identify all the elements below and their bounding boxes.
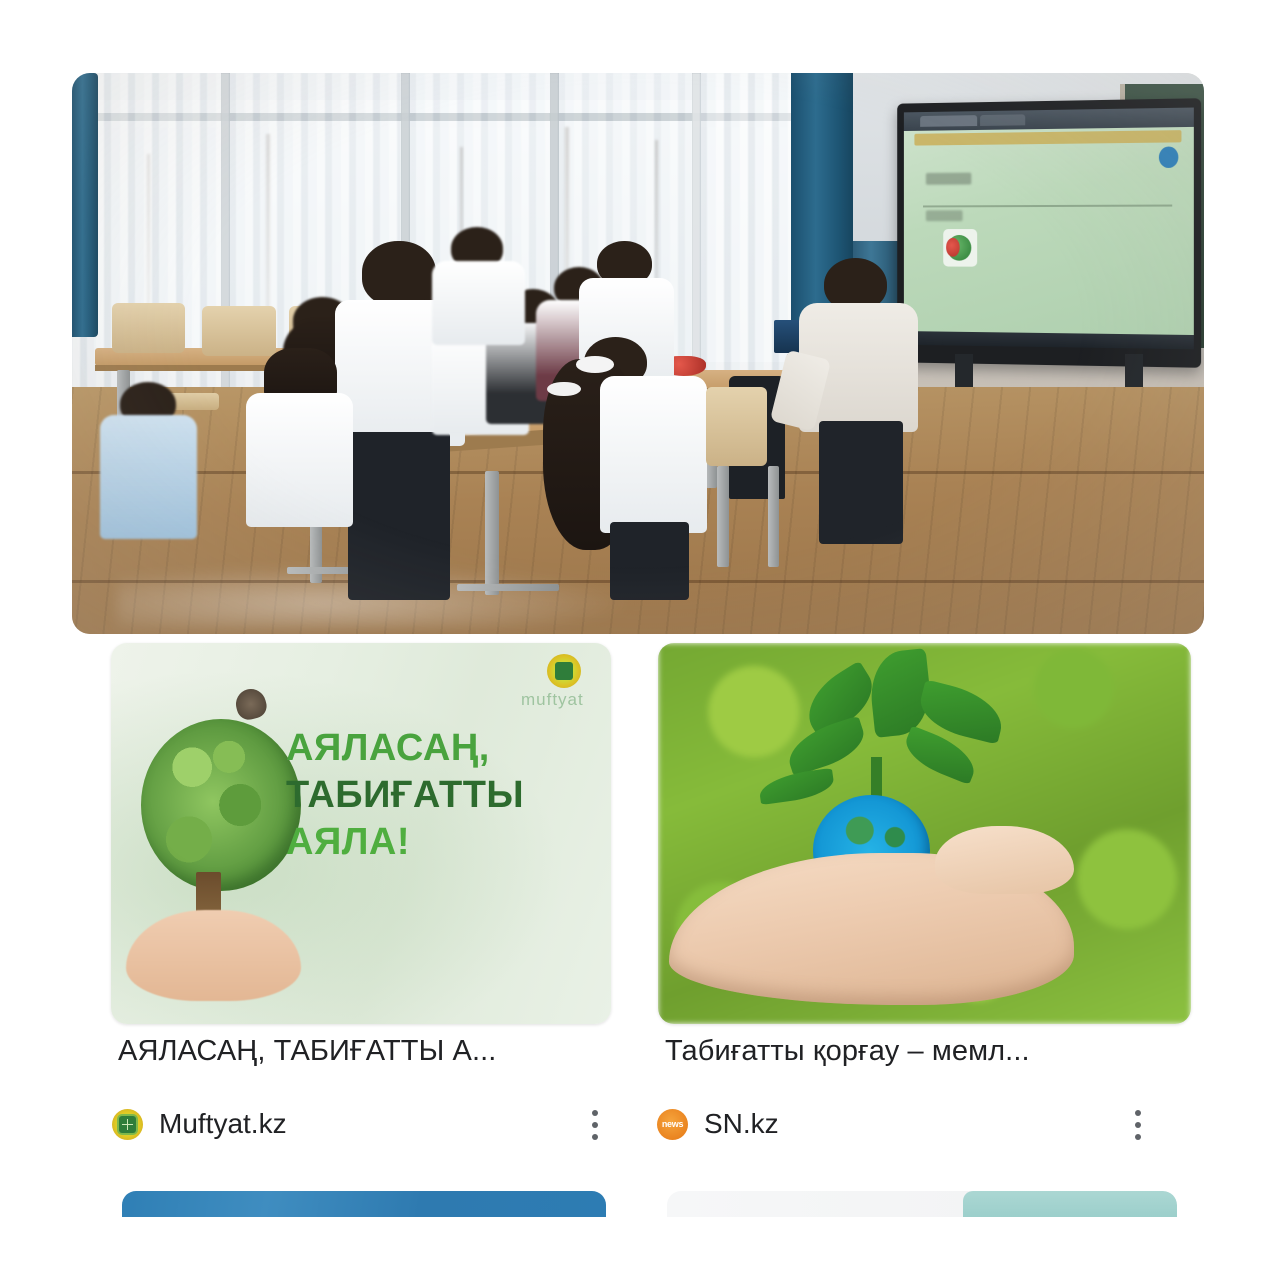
result-thumbnail[interactable] bbox=[658, 643, 1191, 1024]
muftyat-logo-icon bbox=[547, 654, 581, 688]
search-result-card[interactable]: muftyat АЯЛАСАҢ, ТАБИҒАТТЫ АЯЛА! АЯЛАСАҢ… bbox=[111, 643, 611, 1163]
partial-result-card-blue[interactable] bbox=[122, 1191, 606, 1217]
leaf-icon bbox=[758, 767, 836, 804]
muftyat-logo-icon bbox=[112, 1109, 143, 1140]
result-thumbnail[interactable]: muftyat АЯЛАСАҢ, ТАБИҒАТТЫ АЯЛА! bbox=[111, 643, 611, 1024]
classroom-scene bbox=[72, 73, 1204, 634]
kebab-menu-icon[interactable] bbox=[592, 1110, 598, 1140]
partial-result-card-white[interactable] bbox=[667, 1191, 1177, 1217]
hand-fingers bbox=[935, 826, 1074, 895]
partial-card-teal-accent bbox=[963, 1191, 1177, 1217]
muftyat-watermark-text: muftyat bbox=[521, 690, 581, 710]
result-title[interactable]: АЯЛАСАҢ, ТАБИҒАТТЫ А... bbox=[118, 1034, 618, 1068]
banner-line-3: АЯЛА! bbox=[286, 821, 596, 864]
result-source-name[interactable]: Muftyat.kz bbox=[159, 1108, 287, 1140]
search-result-card[interactable]: Табиғатты қорғау – мемл... bbox=[658, 643, 1191, 1163]
banner-line-1: АЯЛАСАҢ, bbox=[286, 727, 596, 770]
banner-line-2: ТАБИҒАТТЫ bbox=[286, 774, 596, 817]
news-circle-icon: news bbox=[657, 1109, 688, 1140]
classroom-photo bbox=[72, 73, 1204, 634]
banner-text-block: АЯЛАСАҢ, ТАБИҒАТТЫ АЯЛА! bbox=[286, 727, 596, 864]
green-globe-tree-illustration bbox=[141, 719, 301, 890]
result-title[interactable]: Табиғатты қорғау – мемл... bbox=[665, 1034, 1198, 1068]
favicon-label: news bbox=[662, 1119, 683, 1129]
result-source-name[interactable]: SN.kz bbox=[704, 1108, 779, 1140]
kebab-menu-icon[interactable] bbox=[1135, 1110, 1141, 1140]
photo-vignette bbox=[72, 73, 1204, 634]
result-source-row-1[interactable]: Muftyat.kz bbox=[112, 1108, 287, 1140]
muftyat-watermark: muftyat bbox=[521, 654, 581, 710]
result-source-row-2[interactable]: news SN.kz bbox=[657, 1108, 779, 1140]
foreground-subject bbox=[658, 643, 1191, 1024]
